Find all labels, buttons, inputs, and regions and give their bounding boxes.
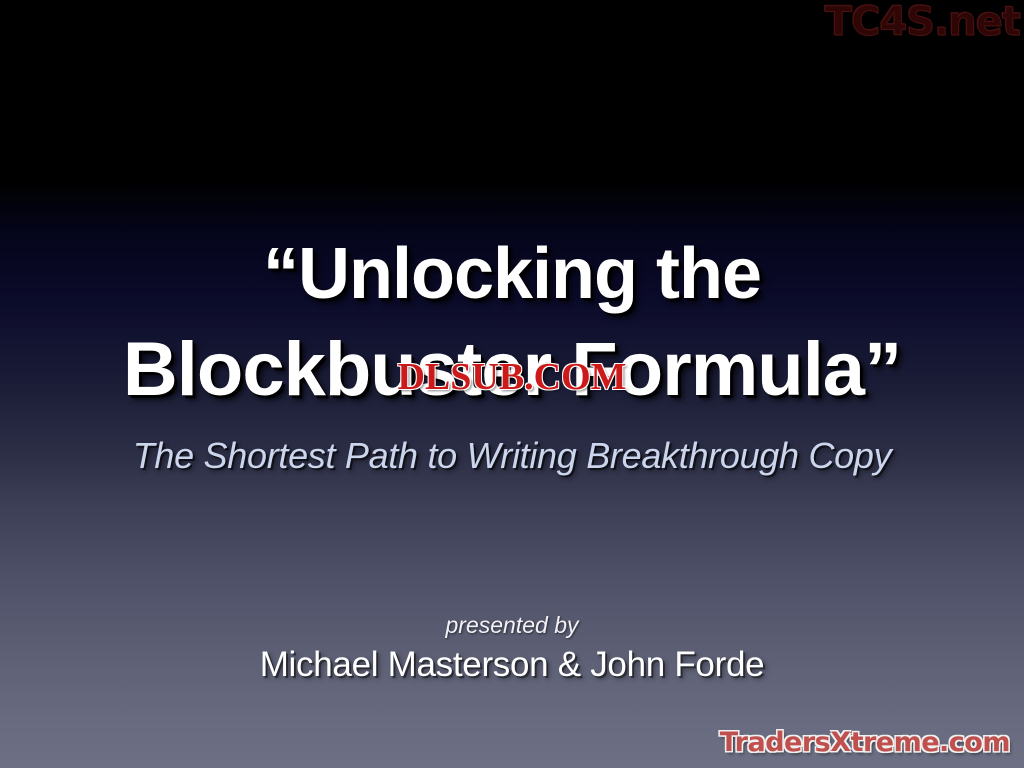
title-line-1: “Unlocking the bbox=[0, 238, 1024, 310]
bottom-right-logo: TradersXtreme.com bbox=[720, 729, 1010, 756]
slide-title: “Unlocking the Blockbuster Formula” bbox=[0, 238, 1024, 408]
slide-subtitle: The Shortest Path to Writing Breakthroug… bbox=[0, 436, 1024, 476]
presenter-names: Michael Masterson & John Forde bbox=[0, 646, 1024, 685]
presentation-slide: TC4S.net “Unlocking the Blockbuster Form… bbox=[0, 0, 1024, 768]
presenter-credit: presented by Michael Masterson & John Fo… bbox=[0, 612, 1024, 685]
presented-by-label: presented by bbox=[0, 612, 1024, 638]
title-line-2: Blockbuster Formula” bbox=[0, 332, 1024, 408]
top-right-watermark: TC4S.net bbox=[825, 2, 1020, 42]
